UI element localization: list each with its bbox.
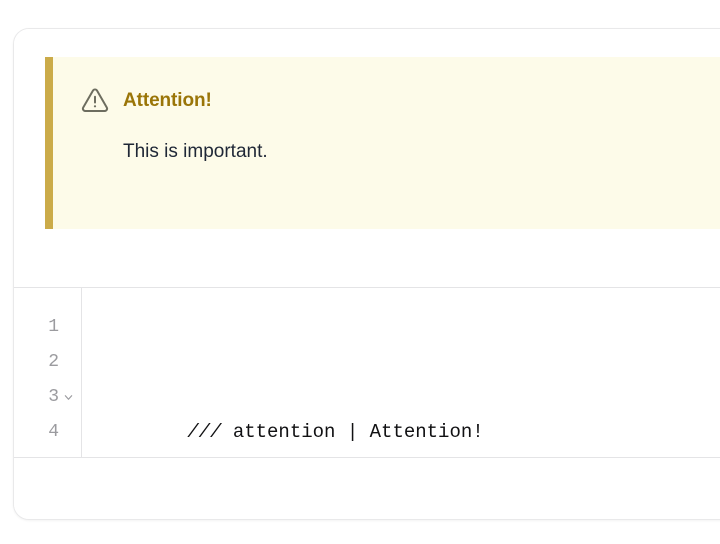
chevron-down-icon [64, 393, 73, 402]
code-token-text: attention | Attention! [233, 421, 484, 443]
code-content[interactable]: /// attention | Attention! This is impor… [82, 288, 720, 457]
callout-header: Attention! [81, 85, 720, 115]
code-line: /// attention | Attention! [96, 380, 720, 415]
gutter-row: 1 [14, 310, 81, 345]
line-number: 2 [45, 345, 59, 380]
attention-callout: Attention! This is important. [45, 57, 720, 229]
card-footer [14, 458, 720, 519]
callout-title: Attention! [123, 91, 212, 110]
line-number: 4 [45, 415, 59, 450]
example-card: Attention! This is important. 1 2 3 [13, 28, 720, 520]
gutter-row: 4 [14, 415, 81, 450]
warning-triangle-icon [81, 86, 109, 114]
gutter-row: 3 [14, 380, 81, 415]
line-number: 3 [45, 380, 59, 415]
callout-body-text: This is important. [123, 139, 720, 165]
line-number-gutter: 1 2 3 4 [14, 288, 82, 457]
line-number: 1 [45, 310, 59, 345]
gutter-row: 2 [14, 345, 81, 380]
callout-content: Attention! This is important. [53, 57, 720, 165]
preview-pane: Attention! This is important. [14, 29, 720, 287]
code-editor[interactable]: 1 2 3 4 /// attention [14, 288, 720, 457]
code-token-comment: /// [187, 421, 233, 443]
code-fold-toggle[interactable] [59, 393, 77, 402]
